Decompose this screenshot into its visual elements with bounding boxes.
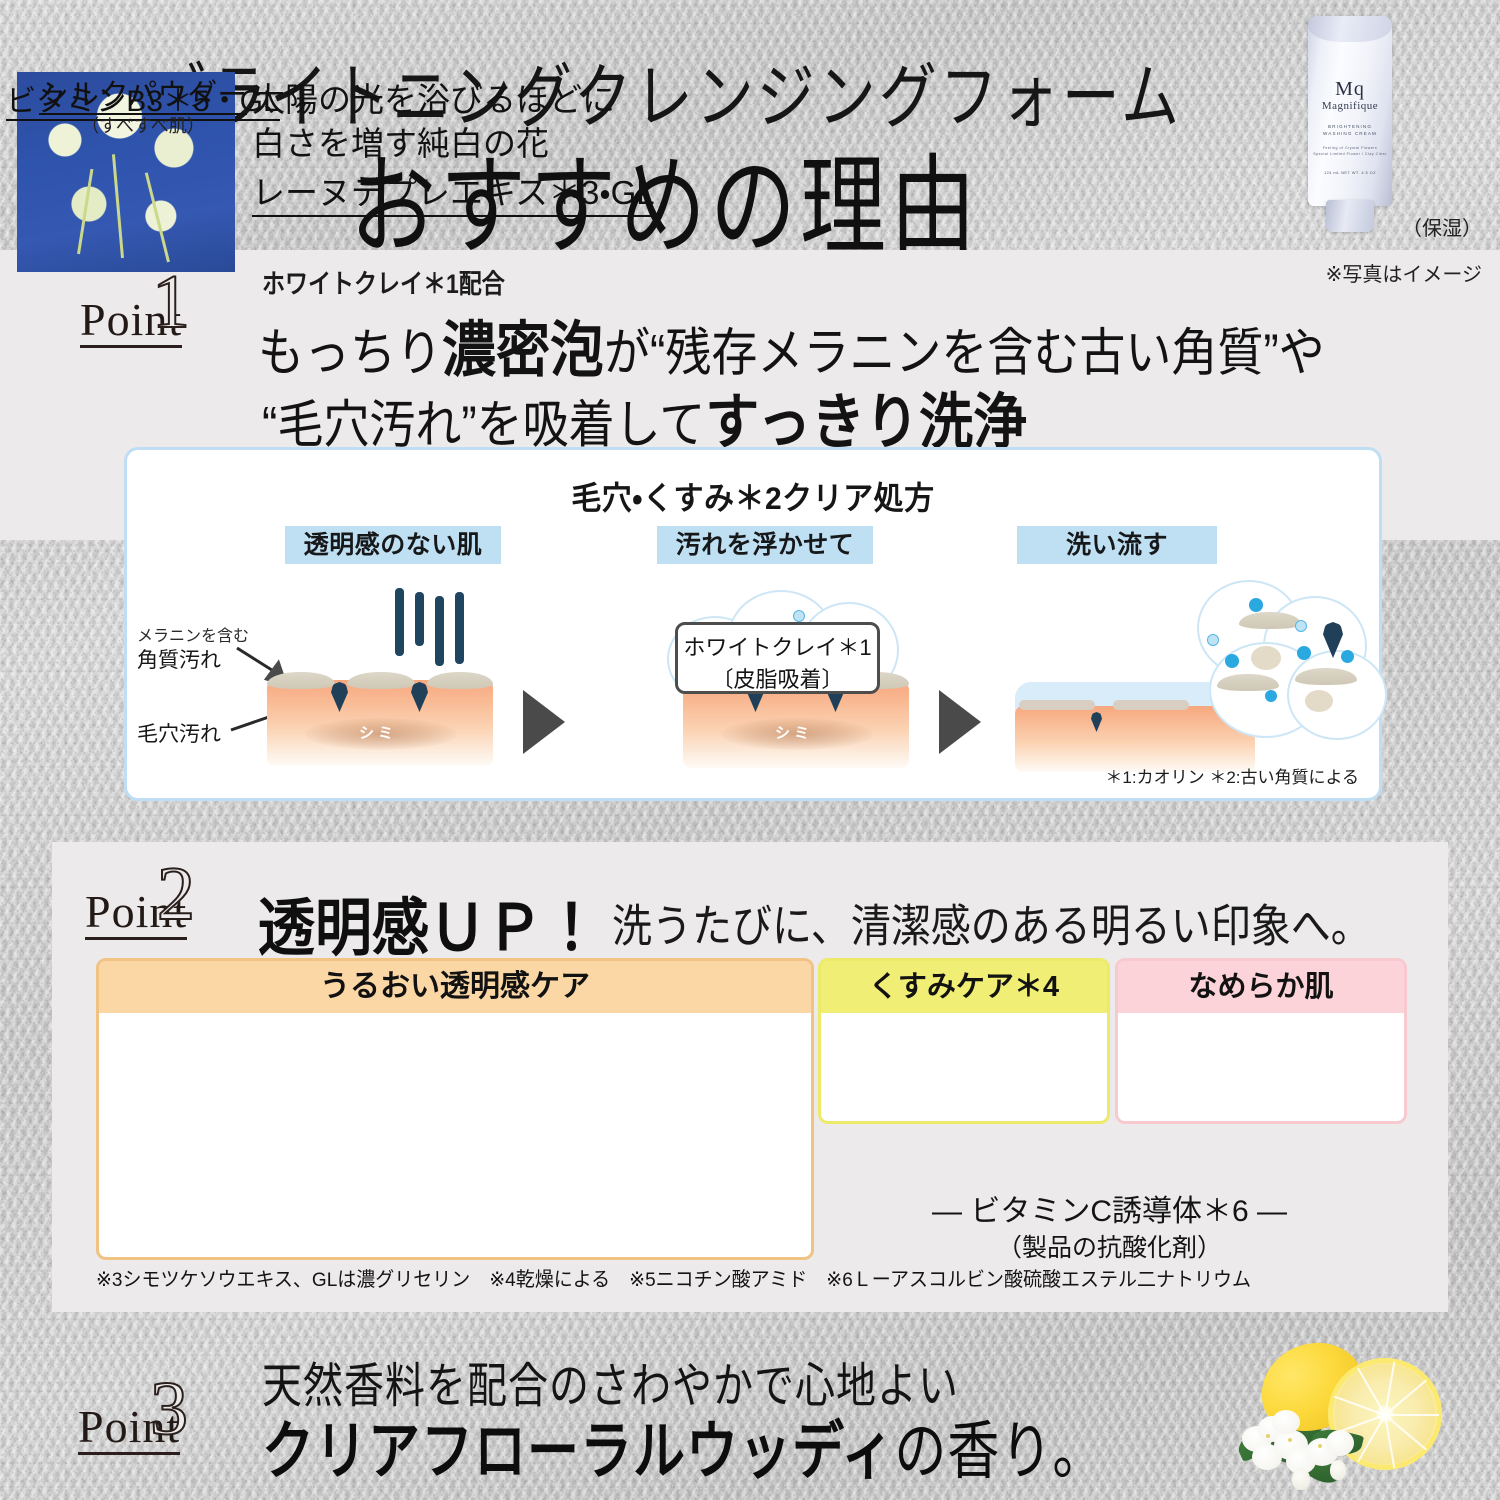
diagram-footnote: ＊1:カオリン ＊2:古い角質による xyxy=(1105,763,1359,788)
point2-tail: 洗うたびに、清潔感のある明るい印象へ。 xyxy=(612,890,1371,955)
tube-tagline: Feeling of Crystal Flowers Special Limit… xyxy=(1302,146,1398,158)
rinse-flake-2 xyxy=(1295,620,1307,632)
dead-skin-fleck-1 xyxy=(1251,646,1281,670)
point3-line2-tail: の香り。 xyxy=(894,1418,1105,1488)
point1-number: 1 xyxy=(152,272,190,333)
jasmine-bud-1 xyxy=(1292,1468,1310,1490)
white-clay-callout: ホワイトクレイ＊1 〔皮脂吸着〕 xyxy=(675,622,880,694)
clay-callout-line1: ホワイトクレイ＊1 xyxy=(678,632,877,664)
point3-line2-bold: クリアフローラルウッディ xyxy=(262,1418,894,1488)
card-a-ingredient: レーヌデプレエキス＊3・GL xyxy=(252,166,655,217)
point1-line2-bold: すっきり洗浄 xyxy=(705,389,1027,456)
point1-kicker: ホワイトクレイ＊1配合 xyxy=(262,262,505,301)
dark-stroke-4 xyxy=(455,592,464,664)
card-smooth-skin: なめらか肌 xyxy=(1115,958,1407,1124)
lemon-segment-1 xyxy=(1385,1414,1439,1416)
tube-cap xyxy=(1326,200,1374,232)
corneocyte-2 xyxy=(347,672,415,689)
foam-flake-1 xyxy=(793,610,805,622)
corneocyte-3 xyxy=(427,672,493,689)
lemon-jasmine-illustration xyxy=(1230,1338,1480,1498)
dark-stroke-2 xyxy=(415,592,424,646)
point2-footnotes: ※3シモツケソウエキス、GLは濃グリセリン ※4乾燥による ※5ニコチン酸アミド… xyxy=(96,1264,1416,1292)
card-moisture-clarity-head: うるおい透明感ケア xyxy=(99,961,811,1013)
point2-headline: 透明感ＵＰ！ xyxy=(258,878,600,968)
clean-corneo-2 xyxy=(1113,700,1189,710)
rinse-bubble-4 xyxy=(1341,650,1354,663)
card-c-ingredient-wrap: シルクパウダー xyxy=(0,70,286,114)
tube-logo: Mq xyxy=(1302,78,1398,101)
jasmine-pollen-2 xyxy=(1288,1438,1292,1442)
shimi-label-1: シミ xyxy=(359,722,397,743)
card-dullness-care-head: くすみケア＊4 xyxy=(821,961,1107,1013)
corneocyte-1 xyxy=(267,672,335,689)
jasmine-petal-5 xyxy=(1272,1410,1300,1434)
diagram-step2-label: 汚れを浮かせて xyxy=(657,526,873,564)
step-arrow-1 xyxy=(523,690,565,754)
jasmine-pollen-3 xyxy=(1318,1444,1322,1448)
point3-number: 3 xyxy=(150,1379,188,1440)
rinse-bubble-1 xyxy=(1249,598,1263,612)
rinsed-corneo-2 xyxy=(1217,674,1279,691)
tube-shoulder xyxy=(1308,16,1392,42)
card-moisture-clarity-text: 太陽の光を浴びるほどに 白さを増す純白の花 xyxy=(252,78,692,166)
tube-net-weight: 124 mL NET WT. 4.5 OZ xyxy=(1302,170,1398,175)
flower-stem-1 xyxy=(77,169,93,254)
vitamin-c-sub: （製品の抗酸化剤） xyxy=(818,1228,1401,1264)
card-c-ingredient-sub: （すべすべ肌） xyxy=(0,112,286,138)
rinse-flake-1 xyxy=(1207,634,1219,646)
rinsed-corneo-3 xyxy=(1295,668,1357,685)
rinse-bubble-2 xyxy=(1297,646,1311,660)
point3-line2: クリアフローラルウッディの香り。 xyxy=(262,1400,1105,1492)
product-tube-image: Mq Magnifique BRIGHTENING WASHING CREAM … xyxy=(1302,8,1398,232)
clay-callout-line2: 〔皮脂吸着〕 xyxy=(678,664,877,696)
point2-number: 2 xyxy=(157,864,195,925)
tube-subtitle: BRIGHTENING WASHING CREAM xyxy=(1302,123,1398,137)
flower-stem-2 xyxy=(112,154,124,258)
point1-line2-pre: “毛穴汚れ”を吸着して xyxy=(262,396,705,454)
step-arrow-2 xyxy=(939,690,981,754)
diagram-step1-label: 透明感のない肌 xyxy=(285,526,501,564)
rinse-foam-d xyxy=(1287,650,1387,740)
tube-brand: Magnifique xyxy=(1302,100,1398,112)
card-smooth-skin-head: なめらか肌 xyxy=(1118,961,1404,1013)
card-a-ingredient-sub: （保湿） xyxy=(1402,212,1482,241)
jasmine-pollen-1 xyxy=(1266,1434,1270,1438)
clean-corneo-1 xyxy=(1019,700,1095,710)
card-moisture-clarity: うるおい透明感ケア xyxy=(96,958,814,1260)
jasmine-bud-2 xyxy=(1330,1460,1346,1480)
vitamin-c-line: ― ビタミンC誘導体＊6 ― xyxy=(818,1186,1401,1230)
card-dullness-care: くすみケア＊4 xyxy=(818,958,1110,1124)
diagram-title: 毛穴・くすみ＊2クリア処方 xyxy=(127,472,1379,519)
rinsed-corneo-1 xyxy=(1239,612,1301,629)
jasmine-petal-8 xyxy=(1326,1430,1354,1456)
card-a-photo-note: ※写真はイメージ xyxy=(1326,258,1482,287)
dark-stroke-1 xyxy=(395,588,404,656)
card-a-line2: 白さを増す純白の花 xyxy=(252,122,692,166)
diagram-step3-label: 洗い流す xyxy=(1017,526,1217,564)
rinse-bubble-5 xyxy=(1265,690,1277,702)
shimi-label-2: シミ xyxy=(775,722,813,743)
rinse-bubble-3 xyxy=(1225,654,1239,668)
flower-stem-3 xyxy=(145,172,170,262)
dead-skin-fleck-2 xyxy=(1305,690,1333,712)
card-c-ingredient: シルクパウダー xyxy=(39,79,248,115)
dark-stroke-3 xyxy=(435,596,444,666)
pore-clear-diagram-panel: 毛穴・くすみ＊2クリア処方 透明感のない肌 汚れを浮かせて 洗い流す メラニンを… xyxy=(124,447,1382,801)
card-a-line1: 太陽の光を浴びるほどに xyxy=(252,78,692,122)
